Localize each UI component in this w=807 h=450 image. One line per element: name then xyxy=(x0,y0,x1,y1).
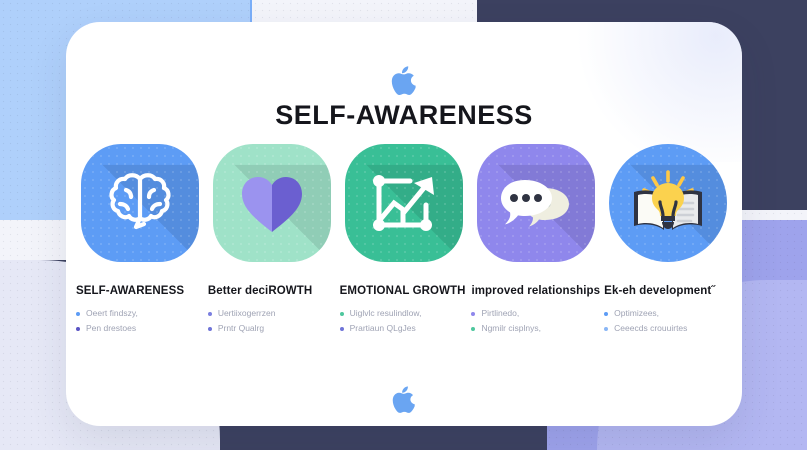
list-item: Prntr Qualrg xyxy=(208,321,340,336)
benefit-column-self-awareness[interactable]: SELF-AWARENESS Oeert findszy, Pen dresto… xyxy=(74,144,206,336)
list-item: Pirtlinedo, xyxy=(471,306,604,321)
bullet-dot xyxy=(208,312,212,316)
apple-logo-icon xyxy=(391,66,417,96)
brand-logo-top xyxy=(66,66,742,96)
bullet-text: Ngmilr cisplnys, xyxy=(481,321,541,336)
benefit-bullet-list: Uertiixogerrzen Prntr Qualrg xyxy=(208,306,340,336)
list-item: Ceeecds crouuirtes xyxy=(604,321,736,336)
speech-bubbles-icon xyxy=(477,144,595,262)
icon-development xyxy=(609,144,727,262)
benefit-heading: Better deciROWTH xyxy=(208,284,340,298)
benefit-text-block: EMOTIONAL GROWTH Uiglvlc resulindlow, Pr… xyxy=(336,284,472,336)
apple-logo-icon xyxy=(392,386,416,414)
bullet-text: Uiglvlc resulindlow, xyxy=(350,306,422,321)
benefit-heading: EMOTIONAL GROWTH xyxy=(340,284,472,298)
list-item: Uertiixogerrzen xyxy=(208,306,340,321)
bullet-dot xyxy=(471,327,475,331)
brain-icon xyxy=(81,144,199,262)
bullet-dot xyxy=(340,327,344,331)
bullet-text: Prartiaun QLgJes xyxy=(350,321,416,336)
page-title: SELF-AWARENESS xyxy=(66,100,742,131)
benefit-column-improved-relationships[interactable]: improved relationships Pirtlinedo, Ngmil… xyxy=(469,144,602,336)
book-lightbulb-icon xyxy=(609,144,727,262)
bullet-text: Optimizees, xyxy=(614,306,659,321)
icon-better-decisions xyxy=(213,144,331,262)
bullet-text: Ceeecds crouuirtes xyxy=(614,321,687,336)
icon-improved-relationships xyxy=(477,144,595,262)
bullet-text: Pen drestoes xyxy=(86,321,136,336)
icon-self-awareness xyxy=(81,144,199,262)
bullet-dot xyxy=(340,312,344,316)
icon-emotional-growth xyxy=(345,144,463,262)
benefit-heading: SELF-AWARENESS xyxy=(76,284,208,298)
bullet-text: Pirtlinedo, xyxy=(481,306,519,321)
benefit-text-block: improved relationships Pirtlinedo, Ngmil… xyxy=(467,284,604,336)
list-item: Pen drestoes xyxy=(76,321,208,336)
bullet-text: Uertiixogerrzen xyxy=(218,306,276,321)
list-item: Ngmilr cisplnys, xyxy=(471,321,604,336)
bullet-dot xyxy=(604,327,608,331)
benefit-heading: Ek-eh development˝ xyxy=(604,284,736,298)
bullet-dot xyxy=(471,312,475,316)
benefit-column-better-decisions[interactable]: Better deciROWTH Uertiixogerrzen Prntr Q… xyxy=(206,144,338,336)
growth-chart-icon xyxy=(345,144,463,262)
brand-logo-bottom xyxy=(66,386,742,414)
list-item: Optimizees, xyxy=(604,306,736,321)
benefit-bullet-list: Pirtlinedo, Ngmilr cisplnys, xyxy=(471,306,604,336)
bullet-text: Oeert findszy, xyxy=(86,306,138,321)
benefit-text-block: SELF-AWARENESS Oeert findszy, Pen dresto… xyxy=(72,284,208,336)
benefit-bullet-list: Oeert findszy, Pen drestoes xyxy=(76,306,208,336)
bullet-dot xyxy=(604,312,608,316)
benefit-heading: improved relationships xyxy=(471,284,604,298)
list-item: Prartiaun QLgJes xyxy=(340,321,472,336)
infographic-canvas: SELF-AWARENESS xyxy=(0,0,807,450)
benefit-columns: SELF-AWARENESS Oeert findszy, Pen dresto… xyxy=(66,144,742,336)
benefit-text-block: Better deciROWTH Uertiixogerrzen Prntr Q… xyxy=(204,284,340,336)
bullet-text: Prntr Qualrg xyxy=(218,321,264,336)
list-item: Uiglvlc resulindlow, xyxy=(340,306,472,321)
bullet-dot xyxy=(76,327,80,331)
benefit-bullet-list: Uiglvlc resulindlow, Prartiaun QLgJes xyxy=(340,306,472,336)
bullet-dot xyxy=(208,327,212,331)
bullet-dot xyxy=(76,312,80,316)
heart-icon xyxy=(213,144,331,262)
benefit-text-block: Ek-eh development˝ Optimizees, Ceeecds c… xyxy=(600,284,736,336)
content-card: SELF-AWARENESS xyxy=(66,22,742,426)
list-item: Oeert findszy, xyxy=(76,306,208,321)
benefit-column-emotional-growth[interactable]: EMOTIONAL GROWTH Uiglvlc resulindlow, Pr… xyxy=(338,144,470,336)
benefit-column-development[interactable]: Ek-eh development˝ Optimizees, Ceeecds c… xyxy=(602,144,734,336)
benefit-bullet-list: Optimizees, Ceeecds crouuirtes xyxy=(604,306,736,336)
